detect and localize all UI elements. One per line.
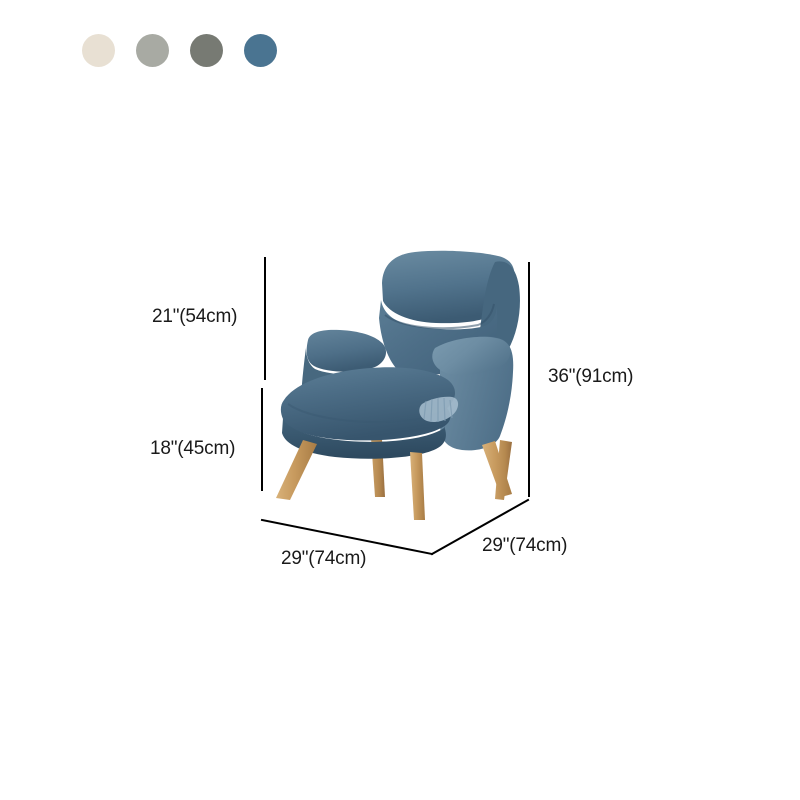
dimension-label-back-height: 21"(54cm): [152, 306, 237, 328]
dimension-lines: [0, 0, 800, 800]
dimension-label-width: 29"(74cm): [281, 548, 366, 570]
dimension-label-total-height: 36"(91cm): [548, 366, 633, 388]
product-illustration: 21"(54cm) 18"(45cm) 36"(91cm) 29"(74cm) …: [0, 0, 800, 800]
dimension-label-depth: 29"(74cm): [482, 535, 567, 557]
product-dimension-figure: 21"(54cm) 18"(45cm) 36"(91cm) 29"(74cm) …: [0, 0, 800, 800]
dimension-label-seat-height: 18"(45cm): [150, 438, 235, 460]
